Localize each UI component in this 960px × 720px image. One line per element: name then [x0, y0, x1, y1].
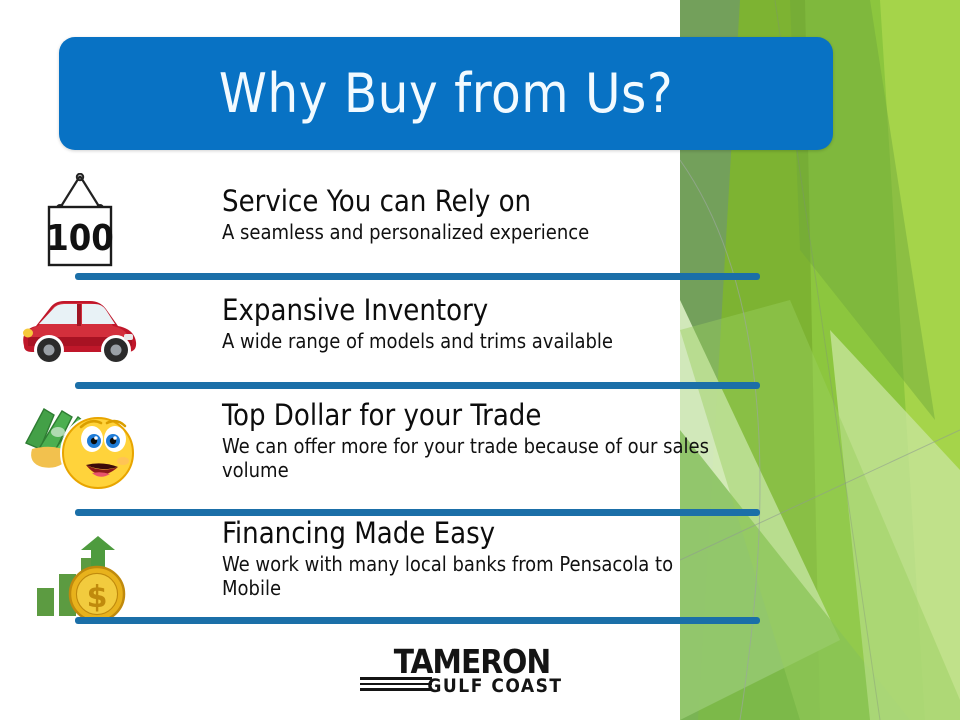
feature-text-service: Service You can Rely on A seamless and p…	[222, 186, 790, 245]
red-car-icon	[0, 285, 160, 375]
feature-heading: Financing Made Easy	[222, 518, 790, 549]
growth-chart-coin-icon-svg: $	[25, 528, 135, 624]
row-divider	[75, 617, 760, 624]
slide-title-banner: Why Buy from Us?	[59, 37, 833, 150]
smiley-with-money-icon-svg	[18, 399, 142, 499]
logo-wordmark: TAMERON	[394, 648, 550, 676]
feature-text-trade: Top Dollar for your Trade We can offer m…	[222, 400, 790, 483]
feature-heading: Expansive Inventory	[222, 295, 790, 326]
feature-row-financing: $ Financing Made Easy We work with many …	[0, 518, 790, 618]
red-car-icon-svg	[16, 288, 144, 372]
row-divider	[75, 273, 760, 280]
feature-heading: Top Dollar for your Trade	[222, 400, 790, 431]
row-divider	[75, 509, 760, 516]
deco-shape-7	[830, 330, 960, 720]
logo-tagline: GULF COAST	[427, 677, 562, 696]
row-divider	[75, 382, 760, 389]
feature-subtext: A seamless and personalized experience	[222, 221, 790, 245]
feature-text-inventory: Expansive Inventory A wide range of mode…	[222, 295, 790, 354]
tameron-gulf-coast-logo: TAMERON GULF COAST	[352, 640, 592, 704]
feature-subtext: We can offer more for your trade because…	[222, 435, 752, 482]
hanging-sign-100-icon: 100	[0, 172, 160, 268]
feature-row-service: 100 Service You can Rely on A seamless a…	[0, 172, 790, 268]
feature-row-inventory: Expansive Inventory A wide range of mode…	[0, 285, 790, 375]
hanging-sign-100-icon-svg: 100	[37, 173, 123, 267]
growth-chart-coin-icon: $	[0, 526, 160, 626]
feature-row-trade: Top Dollar for your Trade We can offer m…	[0, 394, 790, 504]
page-title: Why Buy from Us?	[219, 67, 673, 121]
deco-shape-4	[880, 0, 960, 720]
svg-text:$: $	[87, 580, 108, 615]
feature-subtext: A wide range of models and trims availab…	[222, 330, 790, 354]
smiley-with-money-icon	[0, 394, 160, 504]
feature-heading: Service You can Rely on	[222, 186, 790, 217]
svg-text:100: 100	[46, 218, 114, 259]
logo-wordmark-row: TAMERON	[394, 648, 550, 676]
feature-text-financing: Financing Made Easy We work with many lo…	[222, 518, 790, 601]
logo-stripe-mark	[360, 674, 432, 691]
feature-subtext: We work with many local banks from Pensa…	[222, 553, 732, 600]
slide-canvas: Why Buy from Us? 100 Service You can Rel…	[0, 0, 960, 720]
